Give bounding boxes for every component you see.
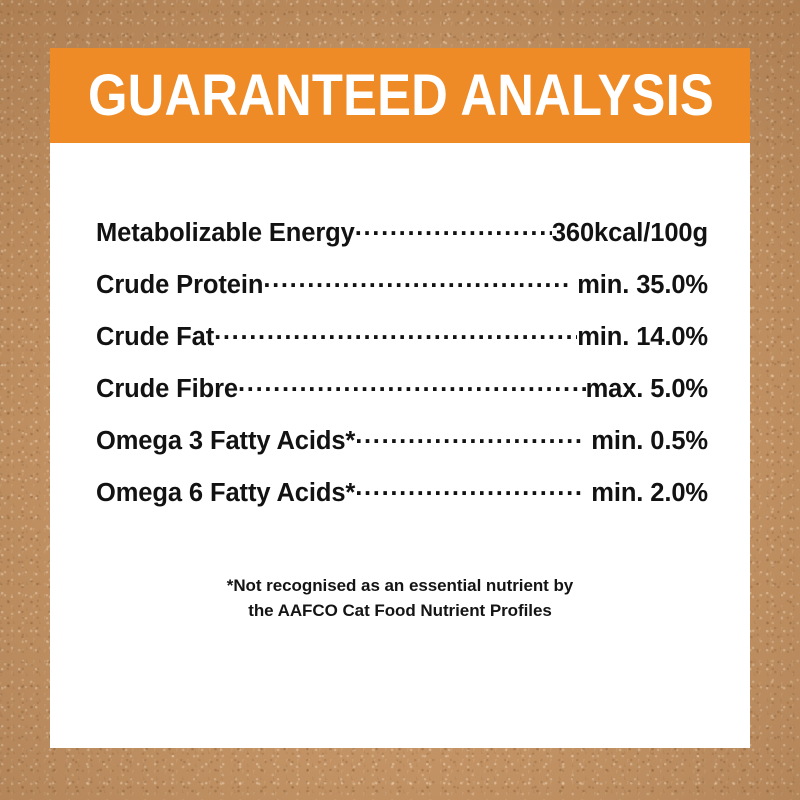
dot-leader (355, 215, 552, 241)
analysis-row: Omega 6 Fatty Acids*min. 2.0% (96, 475, 708, 527)
dot-leader (355, 423, 584, 449)
dot-leader (214, 319, 577, 345)
analysis-row: Crude Fatmin. 14.0% (96, 319, 708, 371)
analysis-row: Omega 3 Fatty Acids*min. 0.5% (96, 423, 708, 475)
dot-leader (238, 371, 586, 397)
white-content-panel: GUARANTEED ANALYSIS Metabolizable Energy… (50, 48, 750, 748)
header-band: GUARANTEED ANALYSIS (50, 48, 750, 143)
nutrient-value: 360kcal/100g (552, 219, 708, 248)
analysis-row: Crude Fibremax. 5.0% (96, 371, 708, 423)
footnote: *Not recognised as an essential nutrient… (50, 573, 750, 623)
page-title: GUARANTEED ANALYSIS (88, 67, 714, 125)
nutrient-label: Crude Protein (96, 271, 263, 300)
guaranteed-analysis-label: GUARANTEED ANALYSIS Metabolizable Energy… (0, 0, 800, 800)
nutrient-value: min. 35.0% (570, 271, 708, 300)
nutrient-value: min. 14.0% (577, 323, 708, 352)
nutrient-label: Omega 3 Fatty Acids* (96, 427, 355, 456)
nutrient-label: Crude Fibre (96, 375, 238, 404)
nutrient-label: Metabolizable Energy (96, 219, 355, 248)
nutrient-value: min. 2.0% (584, 479, 708, 508)
footnote-line-2: the AAFCO Cat Food Nutrient Profiles (50, 598, 750, 623)
footnote-line-1: *Not recognised as an essential nutrient… (50, 573, 750, 598)
dot-leader (355, 475, 584, 501)
nutrient-analysis-list: Metabolizable Energy360kcal/100gCrude Pr… (96, 215, 708, 527)
nutrient-label: Crude Fat (96, 323, 214, 352)
analysis-row: Metabolizable Energy360kcal/100g (96, 215, 708, 267)
nutrient-value: min. 0.5% (584, 427, 708, 456)
nutrient-value: max. 5.0% (586, 375, 708, 404)
dot-leader (263, 267, 570, 293)
analysis-row: Crude Proteinmin. 35.0% (96, 267, 708, 319)
nutrient-label: Omega 6 Fatty Acids* (96, 479, 355, 508)
